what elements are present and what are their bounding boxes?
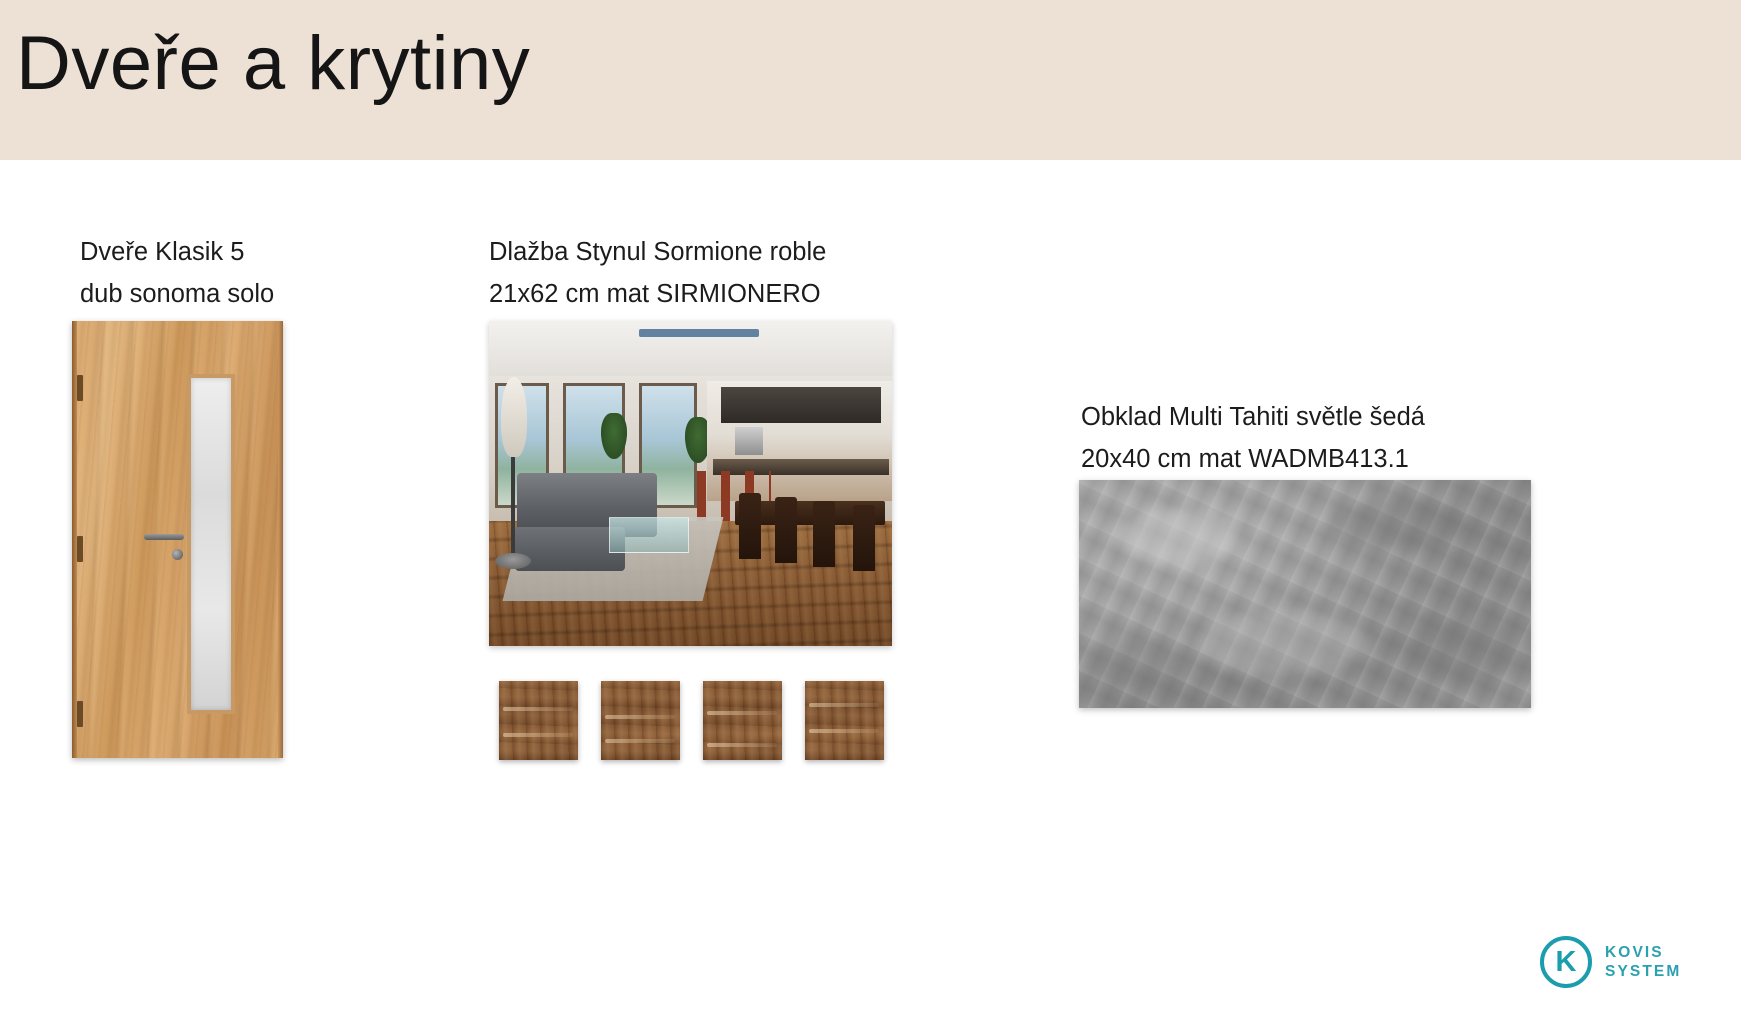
door-hinge-bottom — [77, 701, 83, 727]
room-floor-lamp-shade — [501, 377, 527, 457]
swatch-grain-line — [707, 711, 777, 715]
logo-wordmark-line2: SYSTEM — [1605, 962, 1681, 981]
door-image — [72, 321, 283, 758]
floor-tile-swatch — [703, 681, 782, 760]
room-dining-chair — [775, 497, 797, 563]
caption-floor-line2: 21x62 cm mat SIRMIONERO — [489, 273, 826, 315]
swatch-grain-line — [605, 715, 675, 719]
room-dining-chair — [739, 493, 761, 559]
floor-tile-swatch — [499, 681, 578, 760]
caption-wall-tile: Obklad Multi Tahiti světle šedá 20x40 cm… — [1081, 396, 1425, 480]
door-glass-panel — [187, 374, 235, 714]
swatch-grain-line — [503, 707, 573, 711]
tile-texture-blotch — [1199, 610, 1369, 676]
floor-tile-swatch — [805, 681, 884, 760]
caption-door: Dveře Klasik 5 dub sonoma solo — [80, 231, 274, 315]
caption-floor: Dlažba Stynul Sormione roble 21x62 cm ma… — [489, 231, 826, 315]
door-lock-icon — [172, 549, 183, 560]
room-plant-left — [601, 413, 627, 459]
logo-circle-k-icon: K — [1540, 936, 1592, 988]
room-coffee-table — [609, 517, 689, 553]
room-kitchen-upper-cabinets — [721, 387, 881, 423]
room-interior-image — [489, 321, 892, 646]
swatch-grain-line — [605, 739, 675, 743]
page-title: Dveře a krytiny — [16, 20, 530, 107]
tile-texture-blotch — [1409, 620, 1519, 682]
room-dining-chair — [813, 501, 835, 567]
door-hinge-top — [77, 375, 83, 401]
caption-wall-tile-line1: Obklad Multi Tahiti světle šedá — [1081, 396, 1425, 438]
caption-door-line1: Dveře Klasik 5 — [80, 231, 274, 273]
logo-wordmark: KOVIS SYSTEM — [1605, 943, 1681, 981]
caption-floor-line1: Dlažba Stynul Sormione roble — [489, 231, 826, 273]
tile-texture-blotch — [1329, 500, 1469, 550]
room-dining-chair — [853, 505, 875, 571]
floor-tile-swatch — [601, 681, 680, 760]
swatch-grain-line — [809, 729, 879, 733]
swatch-grain-line — [503, 733, 573, 737]
swatch-grain-line — [809, 703, 879, 707]
room-kitchen-appliance — [735, 427, 763, 455]
room-floor-lamp-pole — [511, 441, 515, 559]
room-ceiling-strip — [639, 329, 759, 337]
door-handle-icon — [144, 534, 184, 540]
tile-texture-blotch — [1119, 508, 1239, 566]
room-floor-lamp-base — [495, 553, 531, 569]
logo-mark-letter: K — [1556, 948, 1577, 977]
wall-tile-image — [1079, 480, 1531, 708]
caption-door-line2: dub sonoma solo — [80, 273, 274, 315]
tile-texture-blotch — [1089, 640, 1179, 690]
kovis-system-logo: K KOVIS SYSTEM — [1540, 931, 1720, 993]
caption-wall-tile-line2: 20x40 cm mat WADMB413.1 — [1081, 438, 1425, 480]
door-right-edge — [278, 321, 283, 758]
logo-wordmark-line1: KOVIS — [1605, 943, 1681, 962]
swatch-grain-line — [707, 743, 777, 747]
door-hinge-middle — [77, 536, 83, 562]
